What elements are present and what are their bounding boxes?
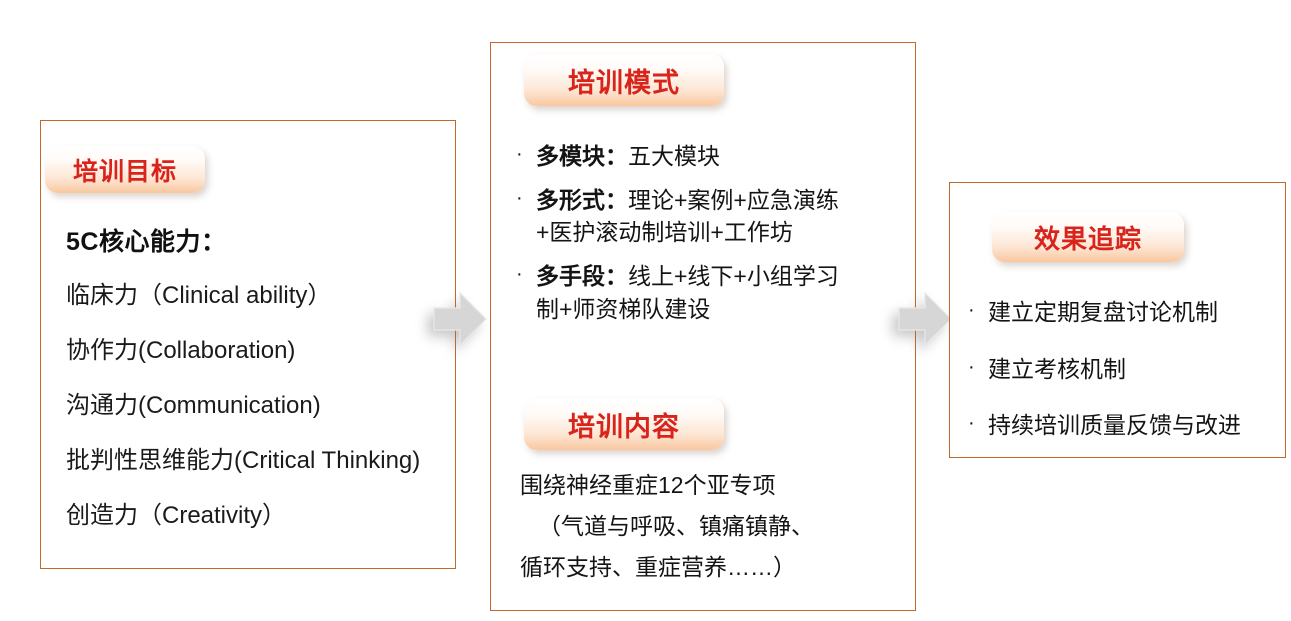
panel-title-pill-effect-tracking: 效果追踪 xyxy=(992,212,1184,262)
bullet-glyph: · xyxy=(968,296,988,325)
mode-bullet-method-label: 多手段： xyxy=(536,263,628,289)
track-item-review-mechanism: 建立定期复盘讨论机制 xyxy=(988,296,1283,329)
list-item: · 多模块：五大模块 xyxy=(516,140,908,173)
bullet-glyph: · xyxy=(968,409,988,438)
flow-arrow-right-icon xyxy=(432,290,488,348)
panel-title-pill-training-mode: 培训模式 xyxy=(524,54,724,106)
goals-heading-5c: 5C核心能力： xyxy=(66,222,456,258)
list-item: · 多手段：线上+线下+小组学习 制+师资梯队建设 xyxy=(516,260,908,325)
bullet-glyph: · xyxy=(968,353,988,382)
goal-item-creativity: 创造力（Creativity） xyxy=(66,504,456,528)
list-item: · 持续培训质量反馈与改进 xyxy=(968,409,1283,442)
mode-bullet-module: 多模块：五大模块 xyxy=(536,140,908,173)
mode-bullet-module-line-1: 五大模块 xyxy=(628,143,720,169)
mode-bullet-method: 多手段：线上+线下+小组学习 制+师资梯队建设 xyxy=(536,260,908,325)
mode-bullet-format-line-1: 理论+案例+应急演练 xyxy=(628,187,839,213)
content-line-3: 循环支持、重症营养……） xyxy=(520,547,910,588)
goal-item-critical-thinking: 批判性思维能力(Critical Thinking) xyxy=(66,449,456,473)
bullet-glyph: · xyxy=(516,140,536,169)
mode-bullet-method-line-1: 线上+线下+小组学习 xyxy=(628,263,839,289)
panel-title-pill-training-content: 培训内容 xyxy=(524,398,724,450)
effect-tracking-list: · 建立定期复盘讨论机制 · 建立考核机制 · 持续培训质量反馈与改进 xyxy=(968,296,1283,466)
mode-bullet-format-line-2: +医护滚动制培训+工作坊 xyxy=(536,219,793,245)
goal-item-clinical: 临床力（Clinical ability） xyxy=(66,284,456,308)
content-line-1: 围绕神经重症12个亚专项 xyxy=(520,465,910,506)
flow-arrow-right-icon xyxy=(897,290,953,348)
mode-bullet-module-label: 多模块： xyxy=(536,143,628,169)
training-mode-list: · 多模块：五大模块 · 多形式：理论+案例+应急演练 +医护滚动制培训+工作坊… xyxy=(516,140,908,336)
bullet-glyph: · xyxy=(516,184,536,213)
list-item: · 多形式：理论+案例+应急演练 +医护滚动制培训+工作坊 xyxy=(516,184,908,249)
list-item: · 建立定期复盘讨论机制 xyxy=(968,296,1283,329)
track-item-assessment-mechanism: 建立考核机制 xyxy=(988,353,1283,386)
mode-bullet-method-line-2: 制+师资梯队建设 xyxy=(536,296,710,322)
goal-item-collaboration: 协作力(Collaboration) xyxy=(66,339,456,363)
goal-item-communication: 沟通力(Communication) xyxy=(66,394,456,418)
bullet-glyph: · xyxy=(516,260,536,289)
training-goals-list: 5C核心能力： 临床力（Clinical ability） 协作力(Collab… xyxy=(66,222,456,559)
content-line-2: （气道与呼吸、镇痛镇静、 xyxy=(520,506,910,547)
list-item: · 建立考核机制 xyxy=(968,353,1283,386)
panel-title-pill-training-goals: 培训目标 xyxy=(45,146,205,193)
track-item-quality-feedback: 持续培训质量反馈与改进 xyxy=(988,409,1283,442)
training-content-text: 围绕神经重症12个亚专项 （气道与呼吸、镇痛镇静、 循环支持、重症营养……） xyxy=(520,465,910,588)
mode-bullet-format: 多形式：理论+案例+应急演练 +医护滚动制培训+工作坊 xyxy=(536,184,908,249)
mode-bullet-format-label: 多形式： xyxy=(536,187,628,213)
